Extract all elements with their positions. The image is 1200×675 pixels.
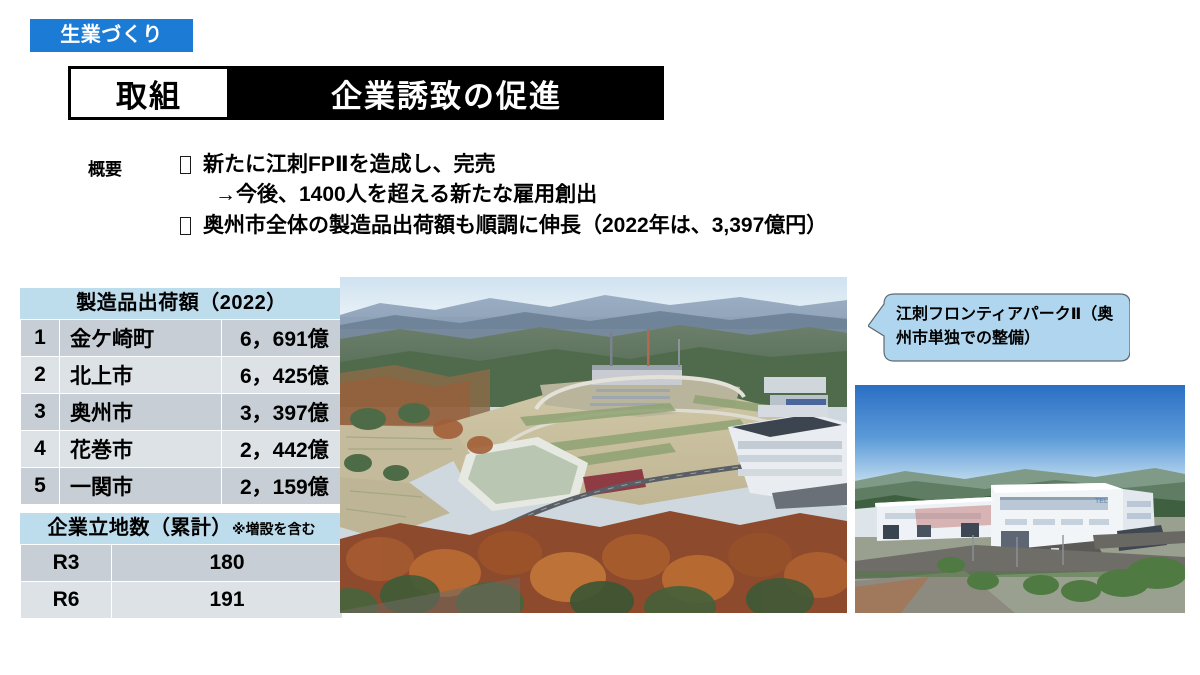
summary-line-text: 新たに江刺FPⅡを造成し、完売 xyxy=(203,150,496,180)
table-row: 4 花巻市 2，442億 xyxy=(21,431,343,468)
aerial-photo-graphic xyxy=(340,277,847,613)
title-banner: 企業誘致の促進 xyxy=(229,66,664,120)
value-cell: 2，159億 xyxy=(222,468,343,505)
count-cell: 191 xyxy=(112,582,343,619)
summary-line-text: 奥州市全体の製造品出荷額も順調に伸長（2022年は、3,397億円） xyxy=(203,211,827,241)
name-cell: 北上市 xyxy=(60,357,222,394)
rank-cell: 3 xyxy=(21,394,60,431)
summary-line-text: →今後、1400人を超える新たな雇用創出 xyxy=(215,180,597,210)
plants-table-grid: R3 180 R6 191 xyxy=(20,544,343,619)
plants-table-title-main: 企業立地数（累計） xyxy=(47,517,232,539)
table-row: 5 一関市 2，159億 xyxy=(21,468,343,505)
value-cell: 2，442億 xyxy=(222,431,343,468)
year-cell: R6 xyxy=(21,582,112,619)
plants-table-title: 企業立地数（累計）※増設を含む xyxy=(20,513,343,544)
title-tag: 取組 xyxy=(68,66,230,120)
value-cell: 6，691億 xyxy=(222,320,343,357)
year-cell: R3 xyxy=(21,545,112,582)
table-row: 3 奥州市 3，397億 xyxy=(21,394,343,431)
count-cell: 180 xyxy=(112,545,343,582)
table-row: R3 180 xyxy=(21,545,343,582)
callout-bubble: 江刺フロンティアパークⅡ（奥州市単独での整備） xyxy=(868,290,1130,365)
table-row: 2 北上市 6，425億 xyxy=(21,357,343,394)
plants-table: 企業立地数（累計）※増設を含む R3 180 R6 191 xyxy=(20,513,343,619)
summary-line: →今後、1400人を超える新たな雇用創出 xyxy=(180,180,827,210)
bullet-square-icon xyxy=(180,217,191,235)
plants-table-title-note: ※増設を含む xyxy=(232,521,316,537)
shipment-table-title: 製造品出荷額（2022） xyxy=(20,288,343,319)
summary-block: 概要 新たに江刺FPⅡを造成し、完売 →今後、1400人を超える新たな雇用創出 … xyxy=(88,150,827,241)
bullet-square-icon xyxy=(180,156,191,174)
summary-lines: 新たに江刺FPⅡを造成し、完売 →今後、1400人を超える新たな雇用創出 奥州市… xyxy=(180,150,827,241)
slide-title-row: 取組 企業誘致の促進 xyxy=(68,66,664,120)
name-cell: 一関市 xyxy=(60,468,222,505)
rank-cell: 5 xyxy=(21,468,60,505)
factory-building-photo: TEL xyxy=(855,385,1185,613)
summary-label: 概要 xyxy=(88,150,180,180)
name-cell: 奥州市 xyxy=(60,394,222,431)
table-row: 1 金ケ崎町 6，691億 xyxy=(21,320,343,357)
svg-text:TEL: TEL xyxy=(1095,498,1108,505)
summary-line: 新たに江刺FPⅡを造成し、完売 xyxy=(180,150,827,180)
name-cell: 金ケ崎町 xyxy=(60,320,222,357)
callout-text: 江刺フロンティアパークⅡ（奥州市単独での整備） xyxy=(896,303,1118,351)
summary-line: 奥州市全体の製造品出荷額も順調に伸長（2022年は、3,397億円） xyxy=(180,211,827,241)
rank-cell: 1 xyxy=(21,320,60,357)
name-cell: 花巻市 xyxy=(60,431,222,468)
category-badge: 生業づくり xyxy=(30,19,193,52)
shipment-table: 製造品出荷額（2022） 1 金ケ崎町 6，691億 2 北上市 6，425億 … xyxy=(20,288,343,505)
rank-cell: 4 xyxy=(21,431,60,468)
value-cell: 3，397億 xyxy=(222,394,343,431)
shipment-table-grid: 1 金ケ崎町 6，691億 2 北上市 6，425億 3 奥州市 3，397億 … xyxy=(20,319,343,505)
factory-photo-graphic: TEL xyxy=(855,385,1185,613)
aerial-industrial-park-photo xyxy=(340,277,847,613)
value-cell: 6，425億 xyxy=(222,357,343,394)
rank-cell: 2 xyxy=(21,357,60,394)
slide-canvas: 生業づくり 取組 企業誘致の促進 概要 新たに江刺FPⅡを造成し、完売 →今後、… xyxy=(0,0,1200,675)
table-row: R6 191 xyxy=(21,582,343,619)
